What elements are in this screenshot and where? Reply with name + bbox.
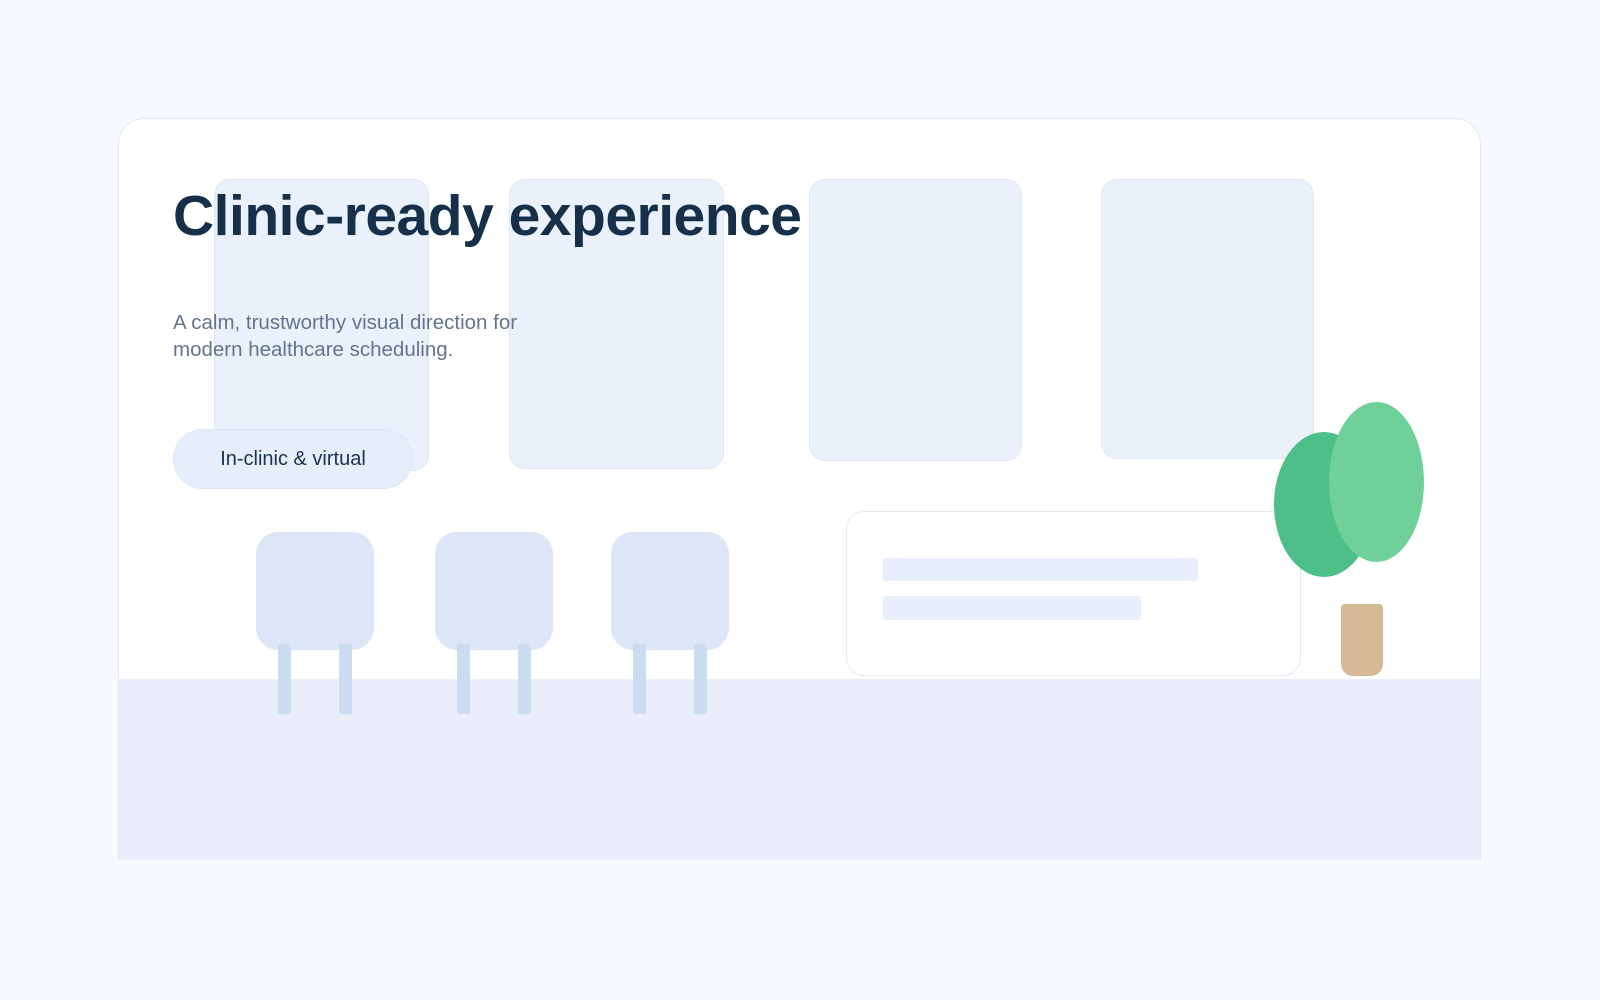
tree-leaf-front: [1329, 402, 1424, 562]
chair-leg-right: [694, 644, 707, 714]
chair-leg-right: [518, 644, 531, 714]
desk-skeleton-line-1: [883, 558, 1198, 581]
chair-leg-left: [278, 644, 291, 714]
scene-card: Clinic-ready experience A calm, trustwor…: [118, 118, 1481, 860]
page-title: Clinic-ready experience: [173, 187, 933, 247]
reception-desk-card: [846, 511, 1301, 676]
potted-tree: [1274, 379, 1424, 614]
chair-seat: [435, 532, 553, 650]
illustration-stage: Clinic-ready experience A calm, trustwor…: [0, 0, 1600, 1000]
desk-skeleton-line-2: [883, 596, 1141, 620]
floor-band: [119, 679, 1481, 860]
chair-leg-left: [633, 644, 646, 714]
page-subtitle: A calm, trustworthy visual direction for…: [173, 247, 583, 363]
chip-label: In-clinic & virtual: [220, 448, 366, 471]
chair-seat: [256, 532, 374, 650]
chip-in-clinic-and-virtual[interactable]: In-clinic & virtual: [173, 429, 413, 489]
tree-trunk: [1341, 604, 1383, 676]
chair-seat: [611, 532, 729, 650]
text-block: Clinic-ready experience A calm, trustwor…: [173, 187, 933, 363]
chair-leg-right: [339, 644, 352, 714]
chair-leg-left: [457, 644, 470, 714]
